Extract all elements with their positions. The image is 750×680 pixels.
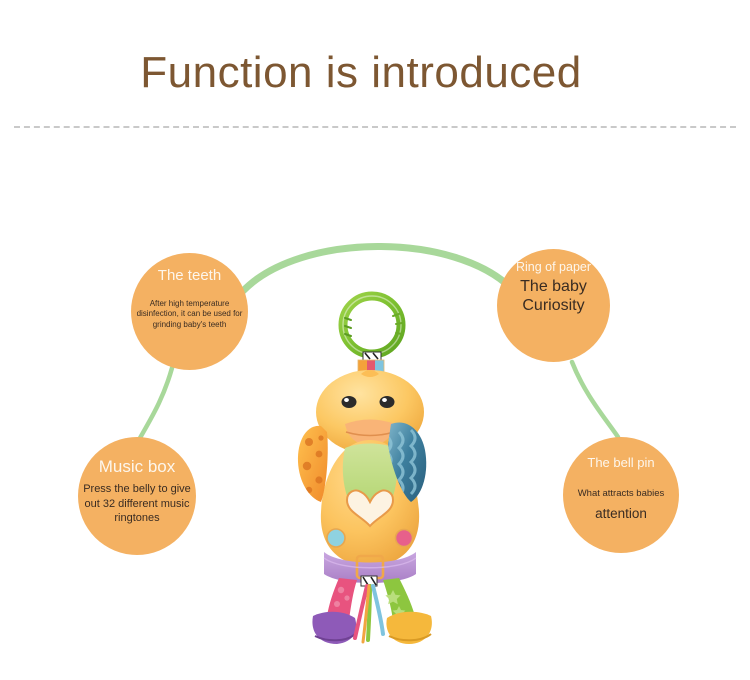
- arc-right: [572, 362, 618, 437]
- callout-bubble-bell-pin: The bell pin What attracts babies attent…: [563, 437, 679, 553]
- callout-bubble-ring-of-paper: Ring of paper The baby Curiosity: [497, 249, 610, 362]
- callout-bubble-music-box: Music box Press the belly to give out 32…: [78, 437, 196, 555]
- leg-left-pink: [312, 578, 357, 644]
- callout-body-music-box: Press the belly to give out 32 different…: [79, 482, 195, 526]
- callout-bubble-teeth: The teeth After high temperature disinfe…: [131, 253, 248, 370]
- page-title: Function is introduced: [0, 48, 750, 98]
- callout-accent-ring-of-paper: The baby Curiosity: [497, 278, 610, 316]
- wing-left-orange-spotted: [298, 426, 328, 502]
- dot-blue: [327, 529, 345, 547]
- callout-title-music-box: Music box: [99, 457, 176, 476]
- eye-right-icon: [380, 396, 395, 408]
- ribbon-tassels: [355, 576, 383, 642]
- callout-title-bell-pin: The bell pin: [587, 456, 654, 471]
- header-divider: [14, 126, 736, 128]
- product-image-plush-chick-rattle: [283, 290, 468, 645]
- leg-right-green: [383, 578, 432, 644]
- foot-right-yellow: [386, 612, 431, 644]
- callout-body-bell-pin: What attracts babies: [578, 488, 665, 501]
- eye-left-icon: [342, 396, 357, 408]
- callout-title-ring-of-paper: Ring of paper: [516, 260, 591, 274]
- callout-body-teeth: After high temperature disinfection, it …: [136, 299, 244, 331]
- arc-top: [243, 246, 512, 291]
- teething-ring-icon: [343, 296, 402, 354]
- infographic-page: Function is introduced The teeth After h…: [0, 0, 750, 680]
- dot-pink: [396, 530, 413, 547]
- callout-accent-bell-pin: attention: [595, 506, 647, 522]
- arc-left: [140, 368, 172, 438]
- callout-title-teeth: The teeth: [158, 268, 221, 285]
- foot-left-purple: [312, 612, 356, 644]
